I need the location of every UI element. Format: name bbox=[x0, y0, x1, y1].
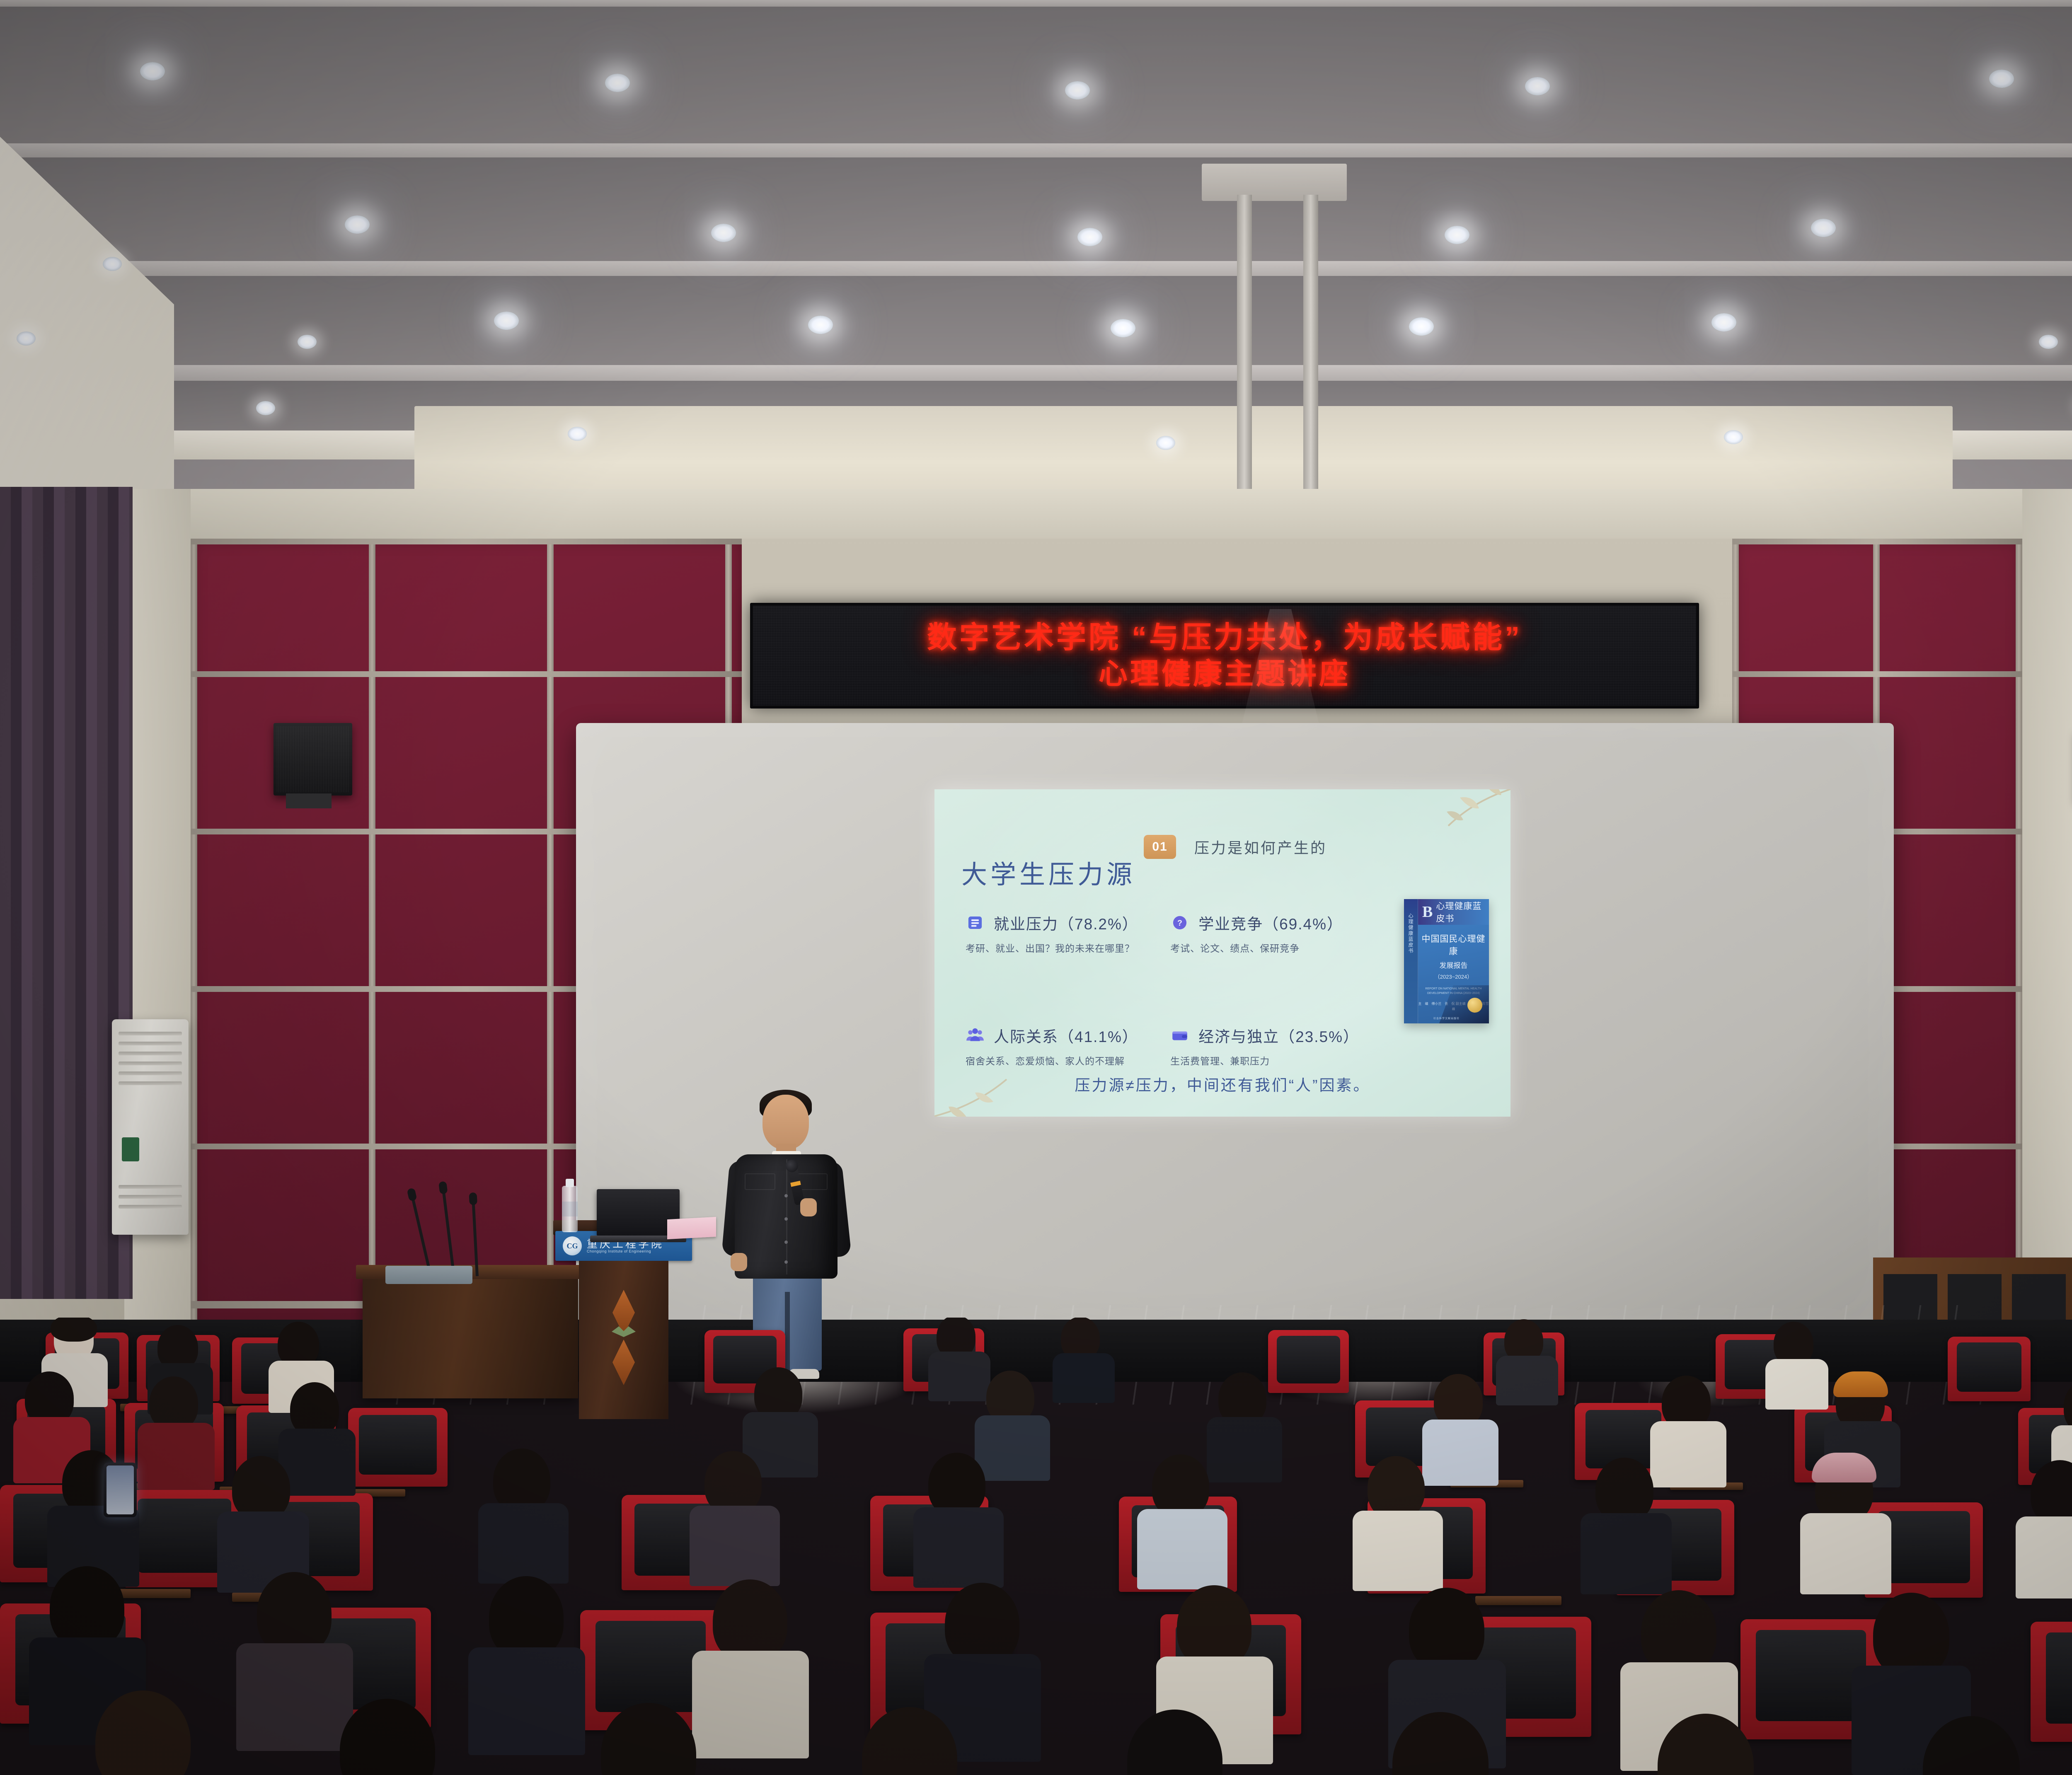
book-title: 中国国民心理健康 bbox=[1418, 932, 1489, 957]
book-spine: 心理健康蓝皮书 bbox=[1404, 899, 1418, 1023]
ceiling-downlight bbox=[2039, 335, 2058, 349]
slide-section-header: 01 压力是如何产生的 bbox=[1144, 835, 1327, 859]
ceiling-downlight bbox=[1525, 77, 1550, 95]
ceiling-downlight bbox=[711, 224, 736, 242]
ceiling-downlight bbox=[1065, 81, 1090, 99]
ceiling-downlight bbox=[17, 331, 36, 346]
ceiling-downlight bbox=[1156, 436, 1175, 450]
ceiling-downlight bbox=[140, 62, 165, 80]
led-banner-line-1: 数字艺术学院 “与压力共处，为成长赋能” bbox=[927, 620, 1522, 656]
book-years: （2023~2024） bbox=[1418, 972, 1489, 980]
wallet-icon bbox=[1170, 1026, 1189, 1045]
ceiling-downlight bbox=[345, 215, 370, 234]
ac-display-panel[interactable] bbox=[122, 1137, 139, 1161]
seat-writing-tablet[interactable] bbox=[1475, 1596, 1561, 1605]
book-logo-letter: B bbox=[1422, 904, 1433, 920]
pink-cap-icon bbox=[1812, 1453, 1876, 1482]
stressor-item: 经济与独立（23.5%） 生活费管理、兼职压力 bbox=[1170, 1024, 1359, 1067]
auditorium-scene: EPSON 数字艺术学 bbox=[0, 0, 2072, 1775]
slide-footer-quote: 压力源≠压力，中间还有我们“人”因素。 bbox=[934, 1073, 1510, 1095]
slide-title: 大学生压力源 bbox=[961, 854, 1135, 891]
presenter-head bbox=[762, 1095, 809, 1149]
book-icon bbox=[966, 913, 985, 932]
stressor-item: 人际关系（41.1%） 宿舍关系、恋爱烦恼、家人的不理解 bbox=[966, 1024, 1154, 1067]
wall-speaker-left bbox=[274, 723, 352, 796]
stressor-grid: 就业压力（78.2%） 考研、就业、出国？我的未来在哪里？ ? 学业竞争（69.… bbox=[966, 912, 1359, 1067]
smartphone-recording[interactable] bbox=[104, 1463, 137, 1517]
stressor-label: 学业竞争（69.4%） bbox=[1198, 912, 1343, 934]
stressor-label: 人际关系（41.1%） bbox=[994, 1024, 1138, 1047]
presentation-slide: 01 压力是如何产生的 大学生压力源 就业压力（78.2%） 考研、就业、出国？… bbox=[934, 789, 1510, 1117]
ceiling-downlight bbox=[1445, 226, 1469, 244]
section-title: 压力是如何产生的 bbox=[1194, 836, 1327, 858]
presenter-hand bbox=[731, 1253, 747, 1271]
ceiling-downlight bbox=[1811, 219, 1836, 237]
stressor-sub: 考研、就业、出国？我的未来在哪里？ bbox=[966, 941, 1154, 955]
orange-cap-icon bbox=[1833, 1371, 1888, 1397]
auditorium-seat[interactable] bbox=[1268, 1330, 1349, 1393]
stressor-item: ? 学业竞争（69.4%） 考试、论文、绩点、保研竞争 bbox=[1170, 912, 1359, 955]
ceiling-downlight bbox=[494, 312, 519, 330]
stressor-label: 经济与独立（23.5%） bbox=[1198, 1024, 1359, 1047]
folded-cloth bbox=[385, 1266, 472, 1284]
projector-mount-pole bbox=[1303, 195, 1318, 522]
people-group-icon bbox=[966, 1026, 985, 1045]
stressor-item: 就业压力（78.2%） 考研、就业、出国？我的未来在哪里？ bbox=[966, 912, 1154, 955]
ceiling-downlight bbox=[103, 257, 122, 271]
ceiling-downlight bbox=[1711, 313, 1736, 331]
projector-ceiling-plate bbox=[1202, 164, 1347, 201]
bluebook-cover-image: 心理健康蓝皮书 B 心理健康蓝皮书 中国国民心理健康 发展报告 （2023~20… bbox=[1404, 899, 1489, 1023]
book-subtitle: 发展报告 bbox=[1418, 960, 1489, 970]
led-banner: 数字艺术学院 “与压力共处，为成长赋能” 心理健康主题讲座 bbox=[750, 603, 1699, 709]
stressor-sub: 宿舍关系、恋爱烦恼、家人的不理解 bbox=[966, 1053, 1154, 1067]
stressor-sub: 考试、论文、绩点、保研竞争 bbox=[1170, 941, 1359, 955]
stressor-sub: 生活费管理、兼职压力 bbox=[1170, 1053, 1359, 1067]
ceiling-downlight bbox=[1989, 70, 2014, 88]
svg-text:?: ? bbox=[1177, 919, 1182, 928]
ceiling-downlight bbox=[1111, 319, 1135, 337]
air-conditioner-unit bbox=[112, 1019, 189, 1235]
presenter-hand bbox=[800, 1198, 817, 1216]
ceiling-downlight bbox=[256, 401, 275, 415]
stressor-label: 就业压力（78.2%） bbox=[994, 912, 1138, 934]
ceiling-downlight bbox=[808, 316, 833, 334]
ceiling-downlight bbox=[1409, 317, 1434, 336]
name-card bbox=[667, 1217, 716, 1239]
auditorium-seat[interactable] bbox=[348, 1408, 448, 1487]
auditorium-seat[interactable] bbox=[1948, 1337, 2031, 1401]
projector-mount-pole bbox=[1237, 195, 1252, 522]
water-bottle bbox=[562, 1186, 578, 1232]
audience-seating bbox=[0, 1318, 2072, 1775]
auditorium-seat[interactable] bbox=[2031, 1622, 2072, 1742]
university-seal-icon bbox=[563, 1236, 582, 1255]
question-circle-icon: ? bbox=[1170, 913, 1189, 932]
section-number-badge: 01 bbox=[1144, 835, 1176, 859]
ceiling-downlight bbox=[298, 335, 317, 349]
lectern-name-en: Chongqing Institute of Engineering bbox=[587, 1250, 664, 1253]
ceiling-downlight bbox=[568, 427, 587, 441]
book-seal-icon bbox=[1467, 998, 1482, 1013]
book-series-title: 心理健康蓝皮书 bbox=[1436, 900, 1489, 924]
led-banner-line-2: 心理健康主题讲座 bbox=[1099, 656, 1351, 692]
book-series-banner: B 心理健康蓝皮书 bbox=[1418, 899, 1489, 925]
ceiling-downlight bbox=[1724, 430, 1743, 444]
book-spine-text: 心理健康蓝皮书 bbox=[1407, 913, 1414, 954]
ceiling-downlight bbox=[605, 74, 630, 92]
book-publisher: 社会科学文献出版社 bbox=[1433, 1016, 1460, 1020]
presenter-jacket bbox=[735, 1154, 838, 1279]
ceiling bbox=[0, 0, 2072, 539]
branch-decoration-icon bbox=[1390, 789, 1510, 860]
ceiling-downlight bbox=[1077, 228, 1102, 246]
